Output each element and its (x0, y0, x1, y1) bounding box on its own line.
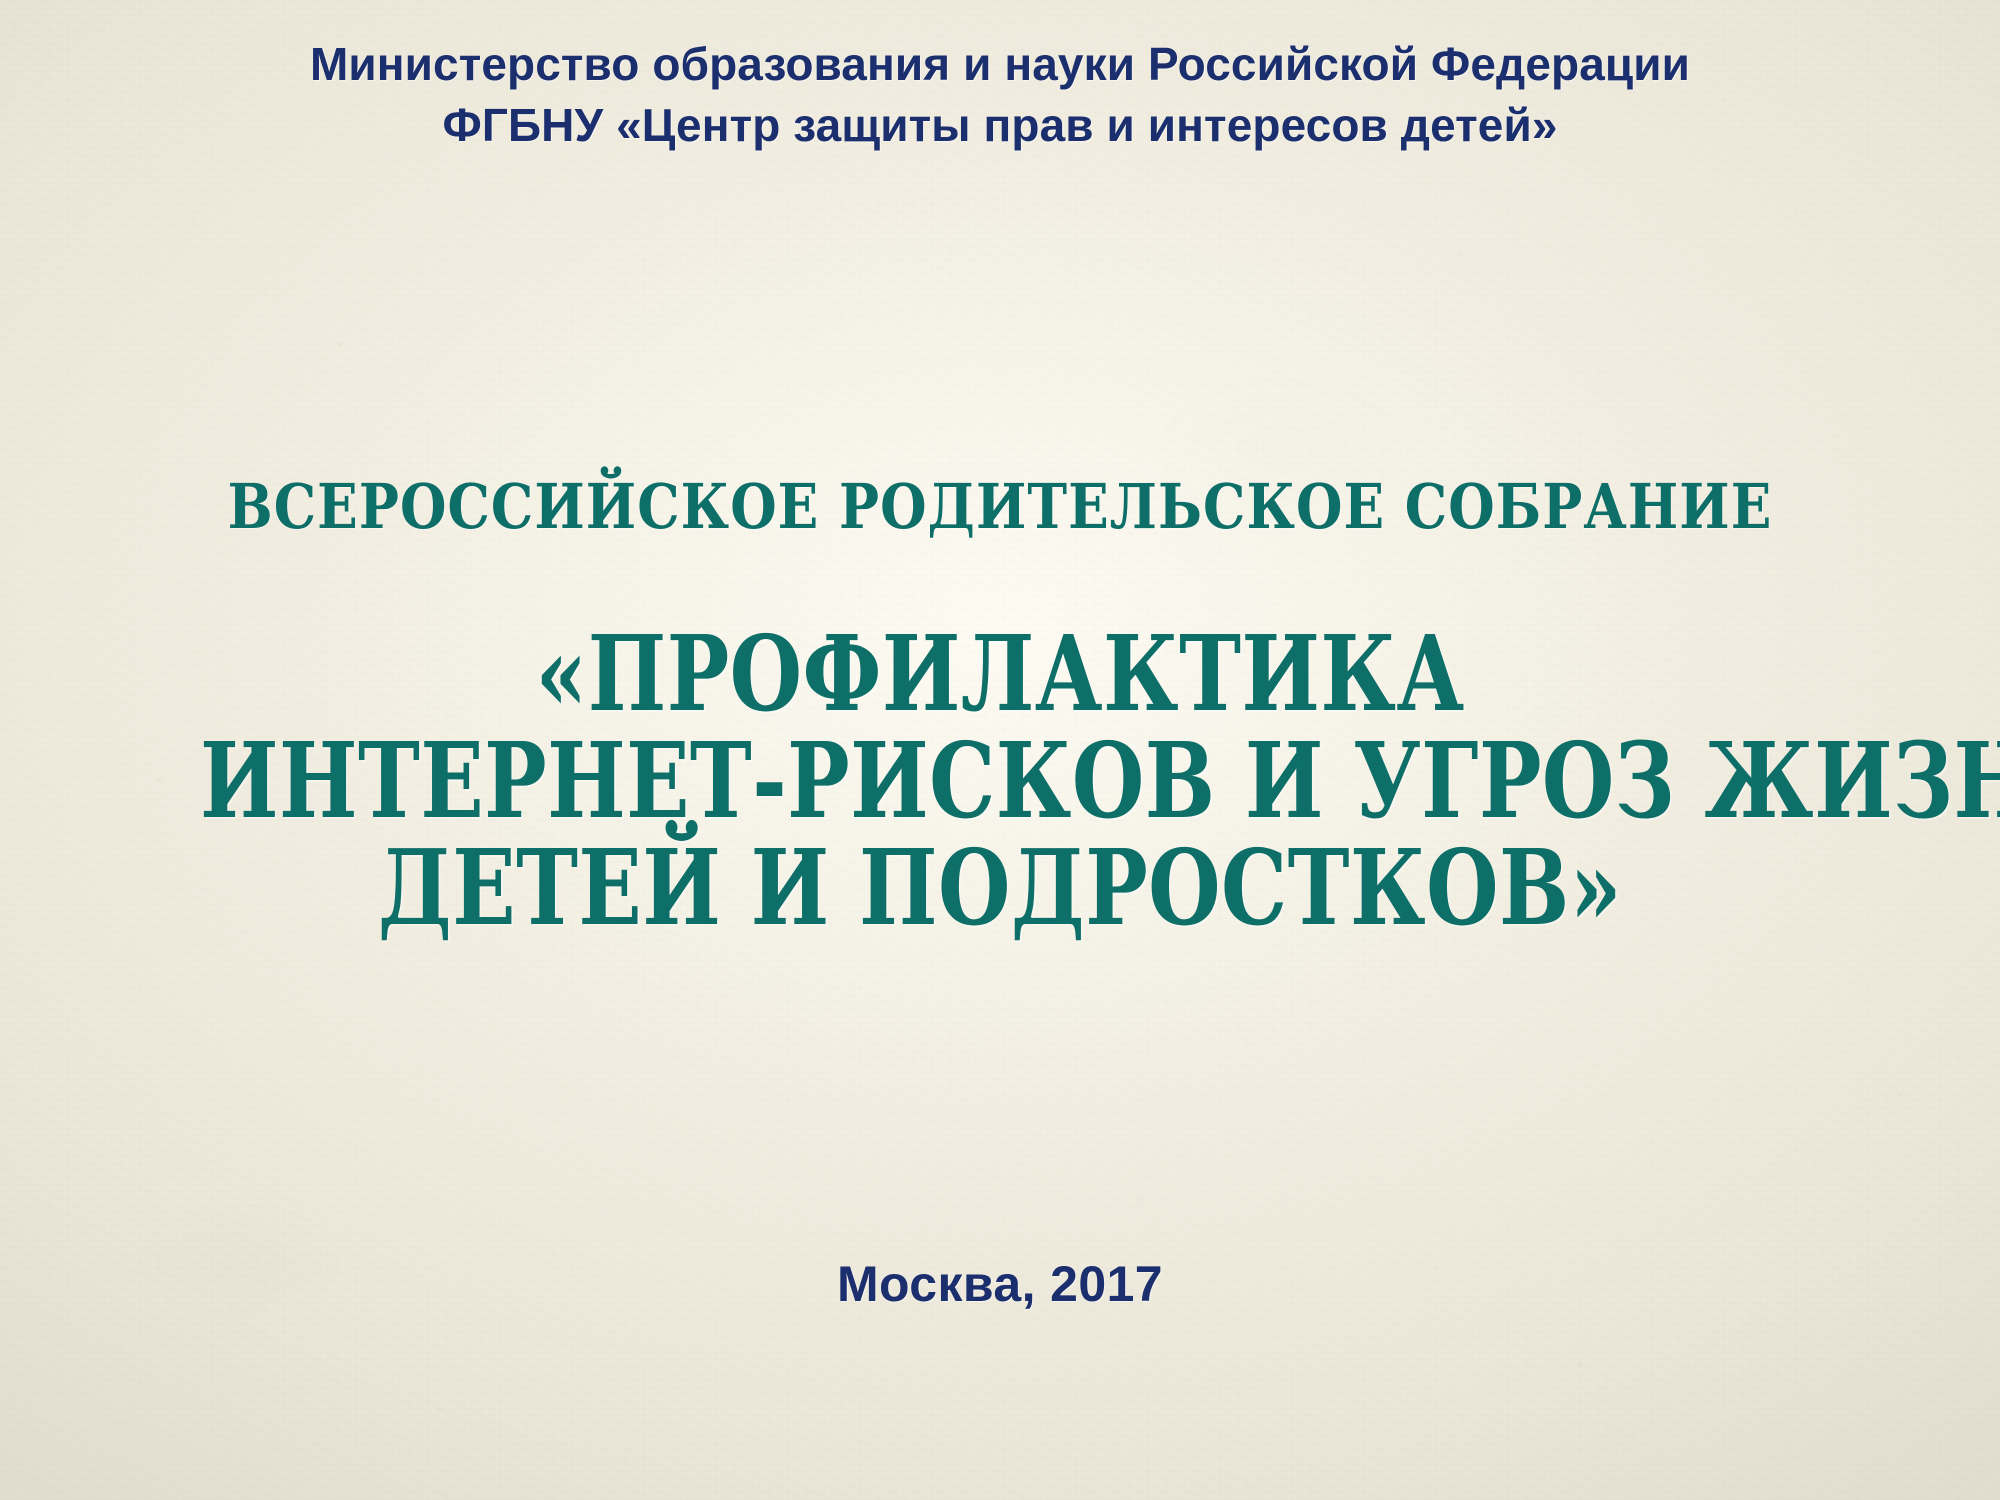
organization-ministry-line: Министерство образования и науки Российс… (0, 34, 2000, 95)
place-and-year: Москва, 2017 (0, 1255, 2000, 1313)
page-title-line-2: ИНТЕРНЕТ-РИСКОВ И УГРОЗ ЖИЗНИ (200, 727, 1800, 834)
organization-header: Министерство образования и науки Российс… (0, 34, 2000, 156)
organization-center-line: ФГБНУ «Центр защиты прав и интересов дет… (0, 95, 2000, 156)
event-name: ВСЕРОССИЙСКОЕ РОДИТЕЛЬСКОЕ СОБРАНИЕ (140, 470, 1860, 543)
page-title: «ПРОФИЛАКТИКА ИНТЕРНЕТ-РИСКОВ И УГРОЗ ЖИ… (0, 620, 2000, 941)
slide-content: Министерство образования и науки Российс… (0, 0, 2000, 1500)
page-title-line-3: ДЕТЕЙ И ПОДРОСТКОВ» (200, 834, 1800, 941)
presentation-title-slide: Министерство образования и науки Российс… (0, 0, 2000, 1500)
page-title-line-1: «ПРОФИЛАКТИКА (200, 620, 1800, 727)
